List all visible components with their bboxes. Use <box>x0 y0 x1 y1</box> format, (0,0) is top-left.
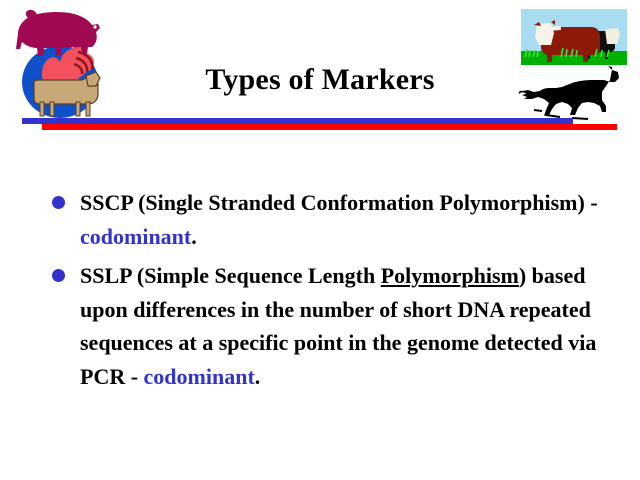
bullet-text-lead: SSLP (Simple Sequence Length <box>80 263 381 288</box>
bullet-dot-icon <box>52 269 65 282</box>
bullet-text-lead: SSCP (Single Stranded Conformation Polym… <box>80 190 598 215</box>
bullet-text-tail: . <box>191 224 197 249</box>
cattle-in-pasture-photo <box>521 9 627 65</box>
bullet-text-accent: codominant <box>144 364 255 389</box>
list-item: SSCP (Single Stranded Conformation Polym… <box>50 186 610 253</box>
list-item: SSLP (Simple Sequence Length Polymorphis… <box>50 259 610 393</box>
bullet-text-tail: . <box>255 364 261 389</box>
bullet-text-underlined: Polymorphism <box>381 263 519 288</box>
presentation-slide: Types of Markers SSCP (Single Stranded C… <box>0 0 640 480</box>
bullet-text-accent: codominant <box>80 224 191 249</box>
bullet-dot-icon <box>52 196 65 209</box>
page-title: Types of Markers <box>0 62 640 98</box>
divider-bar-red <box>42 124 617 130</box>
slide-body: SSCP (Single Stranded Conformation Polym… <box>50 186 610 399</box>
